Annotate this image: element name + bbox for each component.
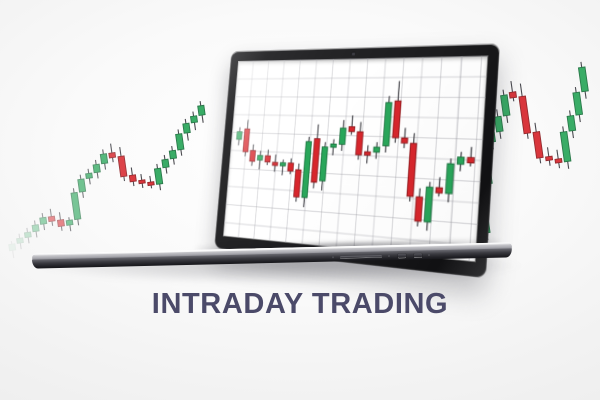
candle-wick (448, 159, 451, 203)
indicator-dot-icon (332, 256, 334, 258)
candlestick (364, 145, 371, 163)
candlestick (457, 152, 465, 172)
laptop-device (0, 0, 600, 400)
candle-body-bearish (364, 152, 370, 156)
candle-body-bullish (257, 155, 262, 160)
candle-body-bearish (250, 150, 256, 161)
candle-body-bearish (436, 188, 443, 194)
candle-body-bearish (311, 139, 320, 183)
candle-body-bullish (383, 103, 392, 146)
candlestick (249, 144, 256, 166)
candlestick (401, 128, 409, 148)
usb-port-icon[interactable] (414, 253, 422, 257)
candle-body-bullish (302, 142, 312, 198)
candle-body-bearish (349, 127, 355, 132)
candle-wick (395, 81, 399, 143)
candle-wick (282, 160, 283, 176)
candle-wick (351, 115, 352, 135)
candlestick (348, 115, 355, 135)
candle-body-bullish (331, 144, 337, 147)
candle-body-bullish (457, 157, 464, 164)
candlestick (467, 147, 475, 167)
candle-body-bearish (272, 162, 277, 165)
candle-body-bearish (356, 132, 364, 155)
candlestick (407, 133, 418, 202)
candle-wick (410, 133, 415, 201)
candle-body-bullish (373, 147, 379, 152)
candlestick (373, 142, 380, 159)
sd-card-slot-icon[interactable] (340, 255, 382, 259)
candlestick (301, 137, 312, 208)
candle-body-bullish (424, 187, 433, 222)
candlestick (243, 120, 251, 157)
candle-body-bearish (392, 101, 401, 138)
screen-candles (230, 80, 479, 234)
candle-wick (367, 145, 368, 163)
candlestick (236, 127, 242, 145)
laptop-screen[interactable] (223, 55, 489, 262)
candlestick (382, 96, 392, 153)
candle-body-bullish (320, 147, 328, 181)
candlestick (355, 122, 364, 160)
candle-wick (385, 96, 389, 153)
candlestick (257, 151, 264, 170)
candle-body-bearish (407, 143, 417, 196)
candle-wick (358, 122, 361, 160)
candlestick (287, 158, 294, 174)
usb-port-icon[interactable] (398, 254, 406, 258)
poster-canvas: INTRADAY TRADING (0, 0, 600, 400)
candle-body-bullish (237, 132, 243, 140)
candle-body-bearish (288, 163, 294, 171)
candle-wick (417, 188, 420, 226)
candle-wick (470, 147, 471, 166)
candle-body-bearish (467, 157, 474, 163)
candlestick (293, 163, 301, 202)
laptop-base (32, 236, 512, 272)
candle-body-bearish (243, 129, 250, 152)
indicator-dot-icon (388, 255, 390, 257)
candle-body-bearish (265, 156, 271, 162)
candle-wick (460, 152, 461, 171)
candlestick (330, 139, 337, 155)
candle-wick (404, 128, 405, 148)
candlestick (265, 149, 271, 165)
candlestick (339, 120, 347, 151)
candle-wick (427, 182, 430, 231)
candlestick (272, 154, 279, 171)
candlestick (414, 188, 423, 227)
laptop-lid-wrapper (196, 46, 496, 261)
candle-wick (376, 142, 377, 159)
candle-body-bullish (339, 128, 346, 144)
page-title: INTRADAY TRADING (0, 288, 600, 321)
candlestick (392, 81, 402, 143)
candlestick (319, 142, 328, 191)
candlestick (424, 182, 434, 231)
indicator-dot-icon (428, 254, 430, 256)
candle-body-bearish (294, 170, 302, 197)
candle-body-bearish (401, 138, 408, 143)
candle-body-bearish (415, 197, 423, 222)
candlestick (279, 159, 286, 175)
candle-body-bullish (280, 163, 286, 166)
port-cluster (332, 251, 442, 263)
